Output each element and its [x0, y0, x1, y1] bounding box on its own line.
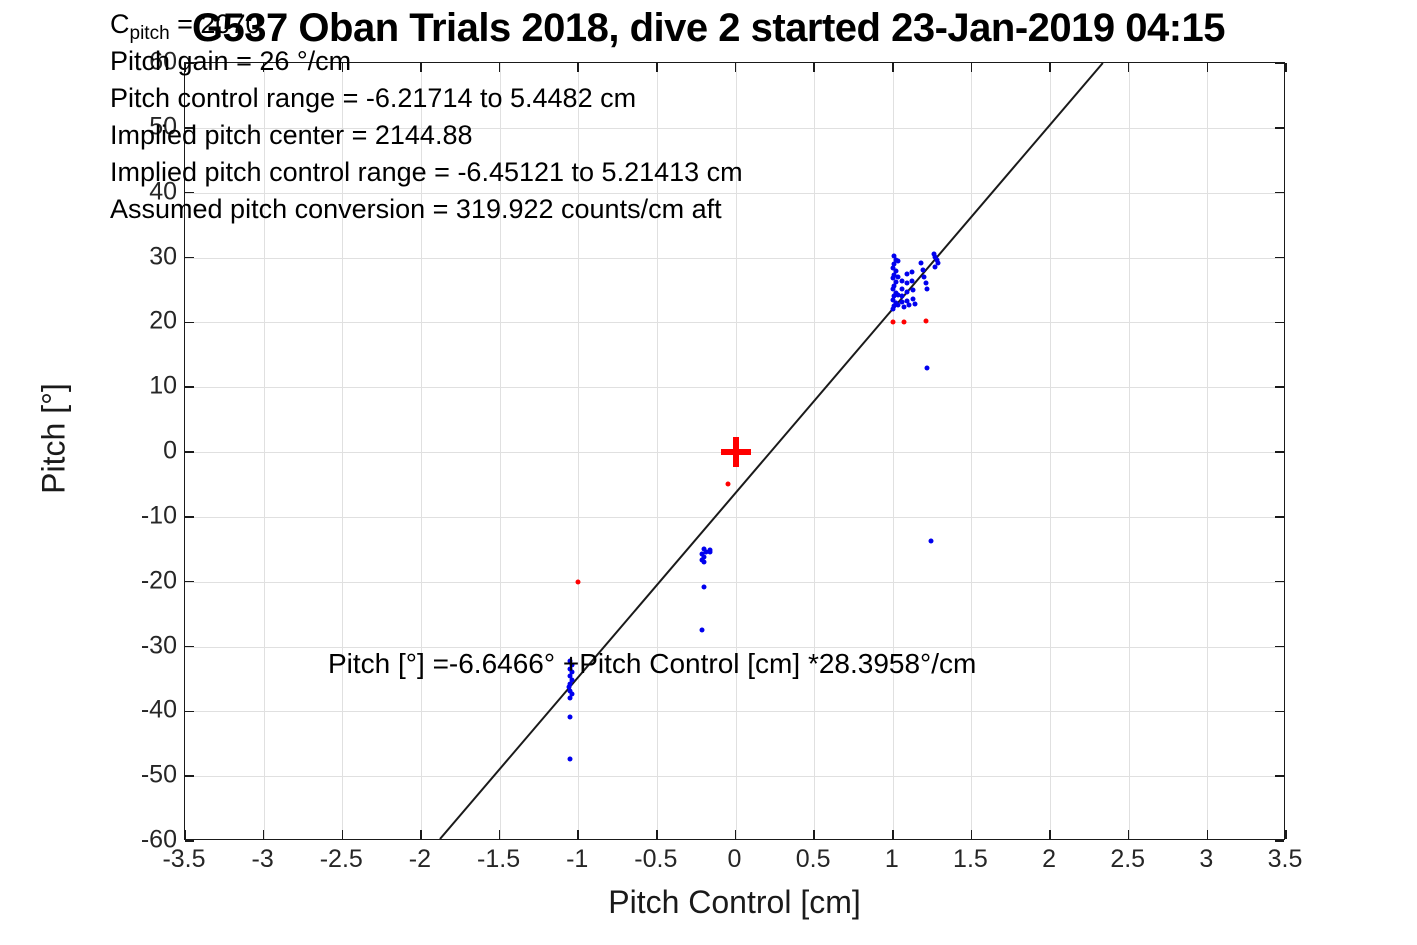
y-axis-tick-right — [1275, 646, 1284, 648]
x-axis-label: Pitch Control [cm] — [184, 884, 1285, 921]
y-axis-label: Pitch [°] — [36, 309, 73, 569]
y-tick-label: 20 — [149, 307, 177, 336]
y-tick-label: 0 — [163, 437, 177, 466]
x-tick-label: -2.5 — [320, 845, 363, 874]
annotation-line-pitch-gain: Pitch gain = 26 °/cm — [110, 43, 743, 80]
x-axis-tick-top — [971, 63, 973, 72]
figure-root: G537 Oban Trials 2018, dive 2 started 23… — [0, 0, 1417, 945]
x-tick-label: 3.5 — [1268, 845, 1303, 874]
x-axis-tick — [342, 830, 344, 839]
parameter-annotation: Cpitch = 2070 Pitch gain = 26 °/cm Pitch… — [110, 6, 743, 228]
y-tick-label: -20 — [141, 566, 177, 595]
x-tick-label: -0.5 — [634, 845, 677, 874]
fit-equation-label: Pitch [°] =-6.6466° +Pitch Control [cm] … — [328, 648, 976, 680]
y-tick-label: -60 — [141, 826, 177, 855]
x-tick-label: 2 — [1042, 845, 1056, 874]
y-axis-tick — [185, 840, 194, 842]
x-axis-tick — [184, 830, 186, 839]
y-axis-tick-right — [1275, 451, 1284, 453]
x-axis-tick-top — [1128, 63, 1130, 72]
y-axis-tick — [185, 386, 194, 388]
annotation-line-assumed-pitch-conversion: Assumed pitch conversion = 319.922 count… — [110, 191, 743, 228]
x-axis-tick — [892, 830, 894, 839]
x-axis-tick-top — [1049, 63, 1051, 72]
cpitch-subscript: pitch — [130, 23, 170, 44]
y-axis-tick — [185, 581, 194, 583]
y-tick-label: 10 — [149, 372, 177, 401]
x-axis-tick — [1049, 830, 1051, 839]
annotation-line-implied-pitch-control-range: Implied pitch control range = -6.45121 t… — [110, 154, 743, 191]
x-axis-tick — [656, 830, 658, 839]
x-tick-label: 2.5 — [1110, 845, 1145, 874]
y-tick-label: -30 — [141, 631, 177, 660]
y-tick-label: -40 — [141, 696, 177, 725]
x-axis-tick — [1285, 830, 1287, 839]
x-tick-label: -2 — [409, 845, 431, 874]
y-axis-tick — [185, 711, 194, 713]
annotation-line-cpitch: Cpitch = 2070 — [110, 6, 743, 43]
x-axis-tick — [499, 830, 501, 839]
x-tick-label: 0.5 — [796, 845, 831, 874]
cpitch-symbol: C — [110, 9, 130, 39]
y-axis-tick-right — [1275, 711, 1284, 713]
x-tick-label: -3 — [252, 845, 274, 874]
y-axis-tick-right — [1275, 192, 1284, 194]
x-tick-label: 3 — [1199, 845, 1213, 874]
y-axis-tick-right — [1275, 775, 1284, 777]
y-tick-label: -10 — [141, 501, 177, 530]
x-tick-label: -1 — [566, 845, 588, 874]
y-axis-tick-right — [1275, 322, 1284, 324]
y-tick-label: 30 — [149, 242, 177, 271]
y-axis-tick-right — [1275, 840, 1284, 842]
x-axis-tick — [263, 830, 265, 839]
annotation-line-implied-pitch-center: Implied pitch center = 2144.88 — [110, 117, 743, 154]
x-axis-tick — [813, 830, 815, 839]
y-axis-tick-right — [1275, 257, 1284, 259]
y-tick-label: -50 — [141, 761, 177, 790]
x-axis-tick — [1128, 830, 1130, 839]
y-axis-tick-right — [1275, 516, 1284, 518]
annotation-line-pitch-control-range: Pitch control range = -6.21714 to 5.4482… — [110, 80, 743, 117]
x-axis-tick — [971, 830, 973, 839]
x-axis-tick — [735, 830, 737, 839]
x-tick-label: -1.5 — [477, 845, 520, 874]
x-axis-tick — [420, 830, 422, 839]
y-axis-tick-right — [1275, 62, 1284, 64]
x-axis-tick-top — [813, 63, 815, 72]
x-tick-label: 1 — [885, 845, 899, 874]
y-axis-tick — [185, 257, 194, 259]
x-tick-label: 1.5 — [953, 845, 988, 874]
y-axis-tick-right — [1275, 386, 1284, 388]
cpitch-value: = 2070 — [170, 9, 261, 39]
x-axis-tick-top — [1285, 63, 1287, 72]
y-axis-tick-right — [1275, 581, 1284, 583]
y-axis-tick — [185, 775, 194, 777]
y-axis-tick — [185, 516, 194, 518]
y-axis-tick-right — [1275, 127, 1284, 129]
x-axis-tick — [577, 830, 579, 839]
y-axis-tick — [185, 322, 194, 324]
y-axis-tick — [185, 646, 194, 648]
y-axis-tick — [185, 451, 194, 453]
x-axis-tick — [1207, 830, 1209, 839]
x-axis-tick-top — [892, 63, 894, 72]
x-tick-label: 0 — [728, 845, 742, 874]
x-axis-tick-top — [1207, 63, 1209, 72]
